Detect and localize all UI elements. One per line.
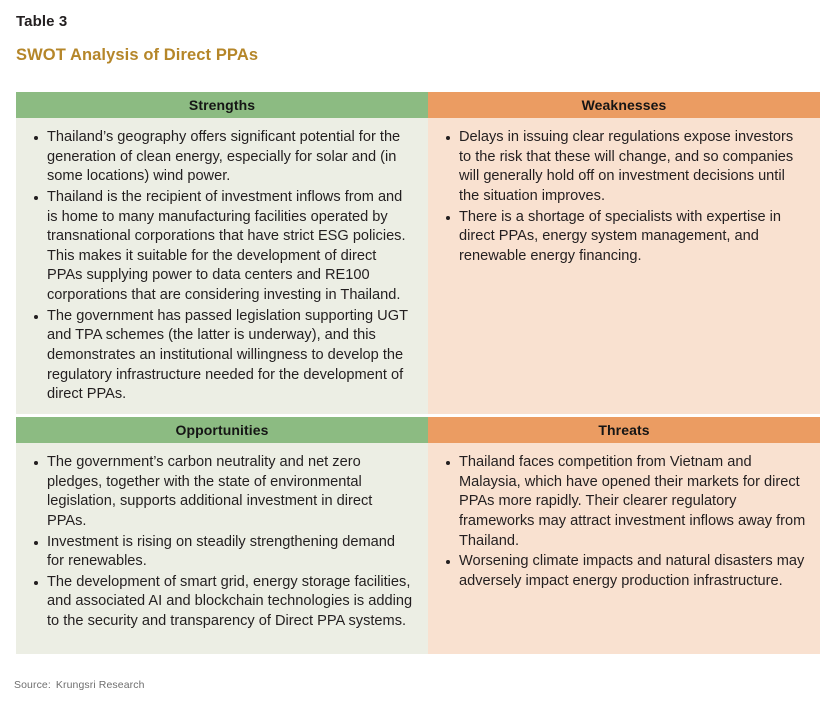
list-item: There is a shortage of specialists with … bbox=[438, 208, 806, 267]
swot-matrix: Strengths Thailand’s geography offers si… bbox=[16, 92, 820, 654]
list-item: Worsening climate impacts and natural di… bbox=[438, 552, 806, 591]
list-item: The government’s carbon neutrality and n… bbox=[26, 453, 414, 532]
list-item: The development of smart grid, energy st… bbox=[26, 573, 414, 632]
swot-quadrant-opportunities: Opportunities The government’s carbon ne… bbox=[16, 417, 428, 654]
table-title: SWOT Analysis of Direct PPAs bbox=[16, 46, 258, 65]
swot-quadrant-strengths: Strengths Thailand’s geography offers si… bbox=[16, 92, 428, 414]
list-item: The government has passed legislation su… bbox=[26, 307, 414, 405]
source-note: Source:Krungsri Research bbox=[14, 679, 145, 691]
swot-row-bottom: Opportunities The government’s carbon ne… bbox=[16, 417, 820, 654]
quadrant-header-opportunities: Opportunities bbox=[16, 417, 428, 443]
opportunities-list: The government’s carbon neutrality and n… bbox=[26, 453, 414, 632]
list-item: Thailand’s geography offers significant … bbox=[26, 128, 414, 187]
quadrant-body-opportunities: The government’s carbon neutrality and n… bbox=[16, 443, 428, 654]
quadrant-header-strengths: Strengths bbox=[16, 92, 428, 118]
table-number-label: Table 3 bbox=[16, 13, 67, 30]
swot-quadrant-weaknesses: Weaknesses Delays in issuing clear regul… bbox=[428, 92, 820, 414]
source-label: Source: bbox=[14, 679, 51, 691]
list-item: Thailand is the recipient of investment … bbox=[26, 188, 414, 306]
threats-list: Thailand faces competition from Vietnam … bbox=[438, 453, 806, 591]
quadrant-body-weaknesses: Delays in issuing clear regulations expo… bbox=[428, 118, 820, 414]
list-item: Investment is rising on steadily strengt… bbox=[26, 533, 414, 572]
quadrant-body-threats: Thailand faces competition from Vietnam … bbox=[428, 443, 820, 654]
quadrant-header-threats: Threats bbox=[428, 417, 820, 443]
quadrant-header-weaknesses: Weaknesses bbox=[428, 92, 820, 118]
table-page: Table 3 SWOT Analysis of Direct PPAs Str… bbox=[0, 0, 840, 709]
list-item: Delays in issuing clear regulations expo… bbox=[438, 128, 806, 207]
quadrant-body-strengths: Thailand’s geography offers significant … bbox=[16, 118, 428, 414]
strengths-list: Thailand’s geography offers significant … bbox=[26, 128, 414, 405]
swot-quadrant-threats: Threats Thailand faces competition from … bbox=[428, 417, 820, 654]
weaknesses-list: Delays in issuing clear regulations expo… bbox=[438, 128, 806, 266]
list-item: Thailand faces competition from Vietnam … bbox=[438, 453, 806, 551]
source-value: Krungsri Research bbox=[56, 679, 145, 691]
swot-row-top: Strengths Thailand’s geography offers si… bbox=[16, 92, 820, 414]
